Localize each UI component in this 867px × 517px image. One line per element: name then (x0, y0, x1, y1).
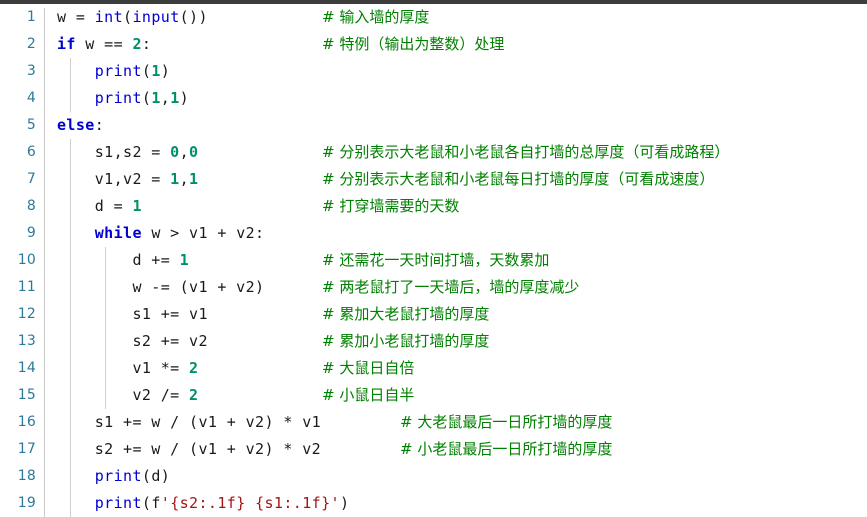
code-token-op: s2 += v2 (57, 332, 208, 350)
code-text[interactable]: s2 += v2 (57, 328, 208, 355)
code-line[interactable]: 2if w == 2:# 特例（输出为整数）处理 (0, 31, 867, 58)
code-token-op: ( (142, 62, 151, 80)
code-token-str: '{s2:.1f} {s1:.1f}' (161, 494, 340, 512)
code-comment: # 还需花一天时间打墙，天数累加 (322, 247, 549, 274)
code-comment: # 打穿墙需要的天数 (322, 193, 459, 220)
code-token-op: (f (142, 494, 161, 512)
code-token-op: ( (142, 89, 151, 107)
code-line[interactable]: 8 d = 1# 打穿墙需要的天数 (0, 193, 867, 220)
code-line[interactable]: 15 v2 /= 2# 小鼠日自半 (0, 382, 867, 409)
code-token-op: v1 *= (57, 359, 189, 377)
code-line[interactable]: 13 s2 += v2# 累加小老鼠打墙的厚度 (0, 328, 867, 355)
code-token-op: d = (57, 197, 132, 215)
code-token-kw: if (57, 35, 76, 53)
code-token-op: , (161, 89, 170, 107)
code-text[interactable]: v2 /= 2 (57, 382, 198, 409)
code-text[interactable]: v1 *= 2 (57, 355, 198, 382)
code-token-op: s1 += v1 (57, 305, 208, 323)
line-number: 13 (0, 328, 36, 355)
code-editor[interactable]: 1w = int(input())# 输入墙的厚度2if w == 2:# 特例… (0, 0, 867, 517)
code-comment: # 输入墙的厚度 (322, 4, 429, 31)
code-token-bfn: print (95, 494, 142, 512)
code-token-op: v1,v2 = (57, 170, 170, 188)
code-text[interactable]: d += 1 (57, 247, 189, 274)
code-token-op: ) (180, 89, 189, 107)
code-token-num: 1 (132, 197, 141, 215)
code-line[interactable]: 3 print(1) (0, 58, 867, 85)
code-line[interactable]: 12 s1 += v1# 累加大老鼠打墙的厚度 (0, 301, 867, 328)
code-token-num: 1 (170, 170, 179, 188)
code-token-op: w > v1 + v2: (142, 224, 265, 242)
code-token-op: v2 /= (57, 386, 189, 404)
code-comment: # 大老鼠最后一日所打墙的厚度 (400, 409, 612, 436)
code-token-num: 1 (151, 62, 160, 80)
code-token-op: s1,s2 = (57, 143, 170, 161)
code-token-op (57, 62, 95, 80)
code-token-kw: else (57, 116, 95, 134)
line-number: 2 (0, 31, 36, 58)
code-comment: # 累加小老鼠打墙的厚度 (322, 328, 489, 355)
code-text[interactable]: s2 += w / (v1 + v2) * v2 (57, 436, 321, 463)
code-token-op: : (95, 116, 104, 134)
line-number: 14 (0, 355, 36, 382)
code-text[interactable]: s1 += w / (v1 + v2) * v1 (57, 409, 321, 436)
line-number: 6 (0, 139, 36, 166)
code-token-num: 1 (180, 251, 189, 269)
code-line[interactable]: 4 print(1,1) (0, 85, 867, 112)
code-line[interactable]: 1w = int(input())# 输入墙的厚度 (0, 4, 867, 31)
code-token-op: (d) (142, 467, 170, 485)
code-token-op: w == (76, 35, 133, 53)
code-comment: # 小鼠日自半 (322, 382, 414, 409)
code-token-kw: while (95, 224, 142, 242)
line-number: 7 (0, 166, 36, 193)
code-text[interactable]: print(1,1) (57, 85, 189, 112)
code-token-num: 2 (189, 359, 198, 377)
code-text[interactable]: print(d) (57, 463, 170, 490)
code-token-op (57, 224, 95, 242)
code-token-bfn: print (95, 89, 142, 107)
code-token-op (57, 494, 95, 512)
code-text[interactable]: while w > v1 + v2: (57, 220, 265, 247)
code-token-num: 2 (189, 386, 198, 404)
line-number: 4 (0, 85, 36, 112)
code-token-bfn: print (95, 467, 142, 485)
line-number: 18 (0, 463, 36, 490)
code-token-op (57, 467, 95, 485)
code-line[interactable]: 18 print(d) (0, 463, 867, 490)
code-comment: # 大鼠日自倍 (322, 355, 414, 382)
code-lines-container[interactable]: 1w = int(input())# 输入墙的厚度2if w == 2:# 特例… (0, 4, 867, 517)
code-line[interactable]: 11 w -= (v1 + v2)# 两老鼠打了一天墙后，墙的厚度减少 (0, 274, 867, 301)
code-token-num: 2 (132, 35, 141, 53)
code-token-op: d += (57, 251, 180, 269)
code-comment: # 累加大老鼠打墙的厚度 (322, 301, 489, 328)
code-token-num: 0 (170, 143, 179, 161)
line-number: 15 (0, 382, 36, 409)
code-line[interactable]: 7 v1,v2 = 1,1# 分别表示大老鼠和小老鼠每日打墙的厚度（可看成速度） (0, 166, 867, 193)
code-comment: # 两老鼠打了一天墙后，墙的厚度减少 (322, 274, 579, 301)
code-line[interactable]: 14 v1 *= 2# 大鼠日自倍 (0, 355, 867, 382)
line-number: 12 (0, 301, 36, 328)
line-number: 19 (0, 490, 36, 517)
code-token-op: s2 += w / (v1 + v2) * v2 (57, 440, 321, 458)
code-line[interactable]: 6 s1,s2 = 0,0# 分别表示大老鼠和小老鼠各自打墙的总厚度（可看成路程… (0, 139, 867, 166)
code-token-op: s1 += w / (v1 + v2) * v1 (57, 413, 321, 431)
code-token-num: 0 (189, 143, 198, 161)
line-number: 1 (0, 4, 36, 31)
code-line[interactable]: 19 print(f'{s2:.1f} {s1:.1f}') (0, 490, 867, 517)
code-comment: # 分别表示大老鼠和小老鼠各自打墙的总厚度（可看成路程） (322, 139, 729, 166)
code-token-num: 1 (189, 170, 198, 188)
code-text[interactable]: print(f'{s2:.1f} {s1:.1f}') (57, 490, 349, 517)
code-text[interactable]: if w == 2: (57, 31, 151, 58)
code-line[interactable]: 17 s2 += w / (v1 + v2) * v2# 小老鼠最后一日所打墙的… (0, 436, 867, 463)
code-text[interactable]: s1 += v1 (57, 301, 208, 328)
code-token-op: ) (161, 62, 170, 80)
line-number: 8 (0, 193, 36, 220)
code-line[interactable]: 5else: (0, 112, 867, 139)
line-number: 5 (0, 112, 36, 139)
code-text[interactable]: s1,s2 = 0,0 (57, 139, 198, 166)
code-text[interactable]: else: (57, 112, 104, 139)
code-comment: # 特例（输出为整数）处理 (322, 31, 504, 58)
line-number: 17 (0, 436, 36, 463)
line-number: 3 (0, 58, 36, 85)
code-token-bfn: input (132, 8, 179, 26)
code-token-op: , (180, 170, 189, 188)
code-line[interactable]: 10 d += 1# 还需花一天时间打墙，天数累加 (0, 247, 867, 274)
code-token-num: 1 (170, 89, 179, 107)
code-token-op: ) (340, 494, 349, 512)
code-comment: # 分别表示大老鼠和小老鼠每日打墙的厚度（可看成速度） (322, 166, 714, 193)
code-token-op: , (180, 143, 189, 161)
code-token-op: w = (57, 8, 95, 26)
line-number: 16 (0, 409, 36, 436)
code-line[interactable]: 16 s1 += w / (v1 + v2) * v1# 大老鼠最后一日所打墙的… (0, 409, 867, 436)
line-number: 11 (0, 274, 36, 301)
code-token-op (57, 89, 95, 107)
code-token-op: ()) (180, 8, 208, 26)
code-token-bfn: int (95, 8, 123, 26)
code-line[interactable]: 9 while w > v1 + v2: (0, 220, 867, 247)
code-token-num: 1 (151, 89, 160, 107)
code-text[interactable]: d = 1 (57, 193, 142, 220)
code-text[interactable]: w = int(input()) (57, 4, 208, 31)
code-token-op: w -= (v1 + v2) (57, 278, 264, 296)
code-text[interactable]: v1,v2 = 1,1 (57, 166, 198, 193)
line-number: 9 (0, 220, 36, 247)
code-comment: # 小老鼠最后一日所打墙的厚度 (400, 436, 612, 463)
code-token-bfn: print (95, 62, 142, 80)
code-text[interactable]: w -= (v1 + v2) (57, 274, 264, 301)
line-number: 10 (0, 247, 36, 274)
code-text[interactable]: print(1) (57, 58, 170, 85)
code-token-op: : (142, 35, 151, 53)
